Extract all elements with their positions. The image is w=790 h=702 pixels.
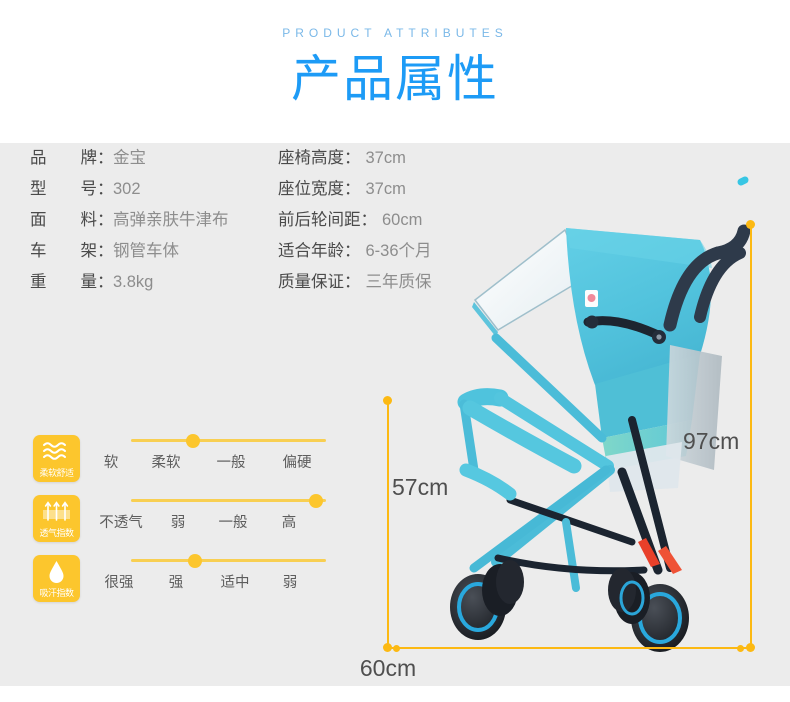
measure-line-width — [388, 647, 751, 649]
spec-key: 车架： — [30, 236, 108, 267]
spec-value: 高弹亲肤牛津布 — [108, 205, 229, 236]
slider-knob[interactable] — [188, 554, 202, 568]
slider-softness[interactable]: 软 柔软 一般 偏硬 — [98, 439, 328, 473]
slider-scale: 不透气 弱 一般 高 — [98, 511, 326, 533]
rating-badge-breathability: 透气指数 — [33, 495, 80, 542]
scale-label: 一般 — [219, 511, 248, 532]
scale-label: 高 — [282, 511, 297, 532]
spec-key: 适合年龄： — [278, 236, 361, 267]
rating-sweat-absorption: 吸汗指数 很强 强 适中 弱 — [33, 555, 333, 615]
spec-row: 型号： 302 — [30, 174, 270, 205]
rating-sliders: 柔软舒适 软 柔软 一般 偏硬 — [33, 435, 333, 615]
scale-label: 柔软 — [152, 451, 181, 472]
spec-key: 面料： — [30, 205, 108, 236]
rating-breathability: 透气指数 不透气 弱 一般 高 — [33, 495, 333, 555]
water-drop-icon — [33, 558, 80, 584]
product-attributes-page: PRODUCT ATTRIBUTES 产品属性 品牌： 金宝 型号： 302 面… — [0, 0, 790, 702]
dimension-seat-height: 57cm — [392, 474, 448, 501]
measure-dot — [383, 396, 392, 405]
spec-value: 钢管车体 — [108, 236, 179, 267]
page-title: 产品属性 — [0, 48, 790, 110]
scale-label: 很强 — [105, 571, 134, 592]
slider-breathability[interactable]: 不透气 弱 一般 高 — [98, 499, 328, 533]
spec-key: 质量保证： — [278, 267, 361, 298]
spec-key: 重量： — [30, 267, 108, 298]
spec-row: 面料： 高弹亲肤牛津布 — [30, 205, 270, 236]
slider-sweat-absorption[interactable]: 很强 强 适中 弱 — [98, 559, 328, 593]
rating-badge-label: 透气指数 — [33, 528, 80, 539]
measure-line-total-height — [750, 224, 752, 648]
rating-badge-sweat: 吸汗指数 — [33, 555, 80, 602]
product-photo — [370, 170, 790, 660]
measure-dot — [737, 645, 744, 652]
measure-dot — [746, 220, 755, 229]
rating-softness: 柔软舒适 软 柔软 一般 偏硬 — [33, 435, 333, 495]
spec-key: 座位宽度： — [278, 174, 361, 205]
airflow-arrows-icon — [33, 498, 80, 524]
slider-knob[interactable] — [309, 494, 323, 508]
scale-label: 软 — [104, 451, 119, 472]
scale-label: 适中 — [221, 571, 250, 592]
scale-label: 不透气 — [99, 511, 143, 532]
page-header: PRODUCT ATTRIBUTES 产品属性 — [0, 0, 790, 143]
spec-column-left: 品牌： 金宝 型号： 302 面料： 高弹亲肤牛津布 车架： 钢管车体 重量： — [30, 143, 270, 298]
scale-label: 弱 — [171, 511, 186, 532]
spec-key: 品牌： — [30, 143, 108, 174]
scale-label: 弱 — [283, 571, 298, 592]
spec-value: 3.8kg — [108, 267, 153, 298]
measure-line-seat-height — [387, 400, 389, 648]
slider-track[interactable] — [131, 559, 326, 562]
slider-scale: 很强 强 适中 弱 — [98, 571, 326, 593]
slider-knob[interactable] — [186, 434, 200, 448]
measure-dot — [383, 643, 392, 652]
dimension-width: 60cm — [348, 655, 428, 682]
slider-track[interactable] — [131, 499, 326, 502]
spec-value: 金宝 — [108, 143, 146, 174]
spec-row: 品牌： 金宝 — [30, 143, 270, 174]
spec-row: 车架： 钢管车体 — [30, 236, 270, 267]
slider-track[interactable] — [131, 439, 326, 442]
slider-scale: 软 柔软 一般 偏硬 — [98, 451, 326, 473]
page-eyebrow: PRODUCT ATTRIBUTES — [0, 26, 790, 40]
measure-dot — [393, 645, 400, 652]
measure-dot — [746, 643, 755, 652]
scale-label: 强 — [169, 571, 184, 592]
rating-badge-label: 柔软舒适 — [33, 468, 80, 479]
scale-label: 一般 — [217, 451, 246, 472]
spec-row: 重量： 3.8kg — [30, 267, 270, 298]
scale-label: 偏硬 — [283, 451, 312, 472]
spec-key: 前后轮间距： — [278, 205, 377, 236]
rating-badge-softness: 柔软舒适 — [33, 435, 80, 482]
waves-icon — [33, 438, 80, 464]
rating-badge-label: 吸汗指数 — [33, 588, 80, 599]
spec-key: 座椅高度： — [278, 143, 361, 174]
spec-key: 型号： — [30, 174, 108, 205]
dimension-total-height: 97cm — [683, 428, 739, 455]
spec-value: 302 — [108, 174, 141, 205]
